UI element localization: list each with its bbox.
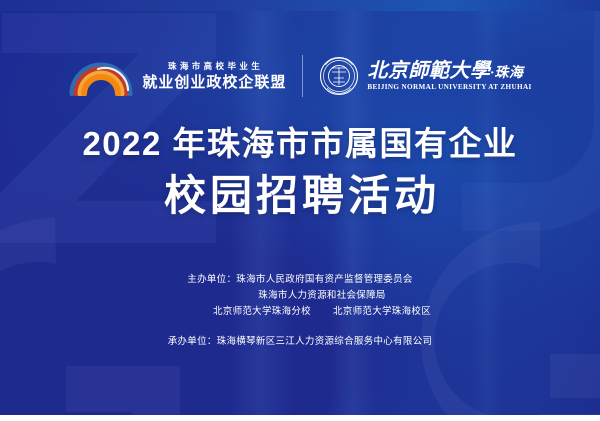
bnu-name-cn: 北京師範大學·珠海: [367, 61, 531, 81]
executor-line: 承办单位：珠海横琴新区三江人力资源综合服务中心有限公司: [0, 334, 600, 350]
bnu-university-name: 北京師範大學: [367, 60, 490, 82]
poster-root: 珠海市高校毕业生 就业创业政校企联盟 北京師範大學·珠海 BEIJING NOR…: [0, 0, 600, 421]
host-org-1: 珠海市人民政府国有资产监督管理委员会: [236, 274, 412, 285]
executor-label: 承办单位：: [168, 336, 217, 347]
zhuhai-alliance-logo: 珠海市高校毕业生 就业创业政校企联盟: [68, 56, 286, 96]
executor-block: 承办单位：珠海横琴新区三江人力资源综合服务中心有限公司: [0, 334, 600, 350]
title-line-1: 2022 年珠海市市属国有企业: [0, 125, 600, 164]
credits-block: 主办单位：珠海市人民政府国有资产监督管理委员会 珠海市人力资源和社会保障局 北京…: [0, 272, 600, 350]
host-line-1: 主办单位：珠海市人民政府国有资产监督管理委员会: [0, 272, 600, 288]
host-line-3: 北京师范大学珠海分校北京师范大学珠海校区: [0, 304, 600, 320]
host-line-2: 珠海市人力资源和社会保障局: [0, 288, 600, 304]
host-block: 主办单位：珠海市人民政府国有资产监督管理委员会 珠海市人力资源和社会保障局 北京…: [0, 272, 600, 320]
alliance-subtitle: 珠海市高校毕业生: [165, 62, 264, 71]
alliance-title: 就业创业政校企联盟: [141, 75, 286, 90]
executor-org: 珠海横琴新区三江人力资源综合服务中心有限公司: [217, 336, 433, 347]
host-org-4: 北京师范大学珠海校区: [333, 306, 431, 317]
host-label: 主办单位：: [187, 274, 236, 285]
logo-row: 珠海市高校毕业生 就业创业政校企联盟 北京師範大學·珠海 BEIJING NOR…: [0, 45, 600, 107]
bnu-name-en: BEIJING NORMAL UNIVERSITY AT ZHUHAI: [367, 84, 531, 91]
bnu-zhuhai-logo: 北京師範大學·珠海 BEIJING NORMAL UNIVERSITY AT Z…: [319, 56, 531, 96]
logo-divider: [302, 55, 303, 97]
poster-title: 2022 年珠海市市属国有企业 校园招聘活动: [0, 125, 600, 222]
bnu-seal-logo-icon: [319, 56, 359, 96]
bnu-campus-cn: 珠海: [494, 66, 523, 81]
host-org-3: 北京师范大学珠海分校: [213, 306, 311, 317]
host-org-2: 珠海市人力资源和社会保障局: [258, 290, 385, 301]
rainbow-arc-logo-icon: [68, 56, 134, 96]
title-line-2: 校园招聘活动: [0, 170, 600, 223]
